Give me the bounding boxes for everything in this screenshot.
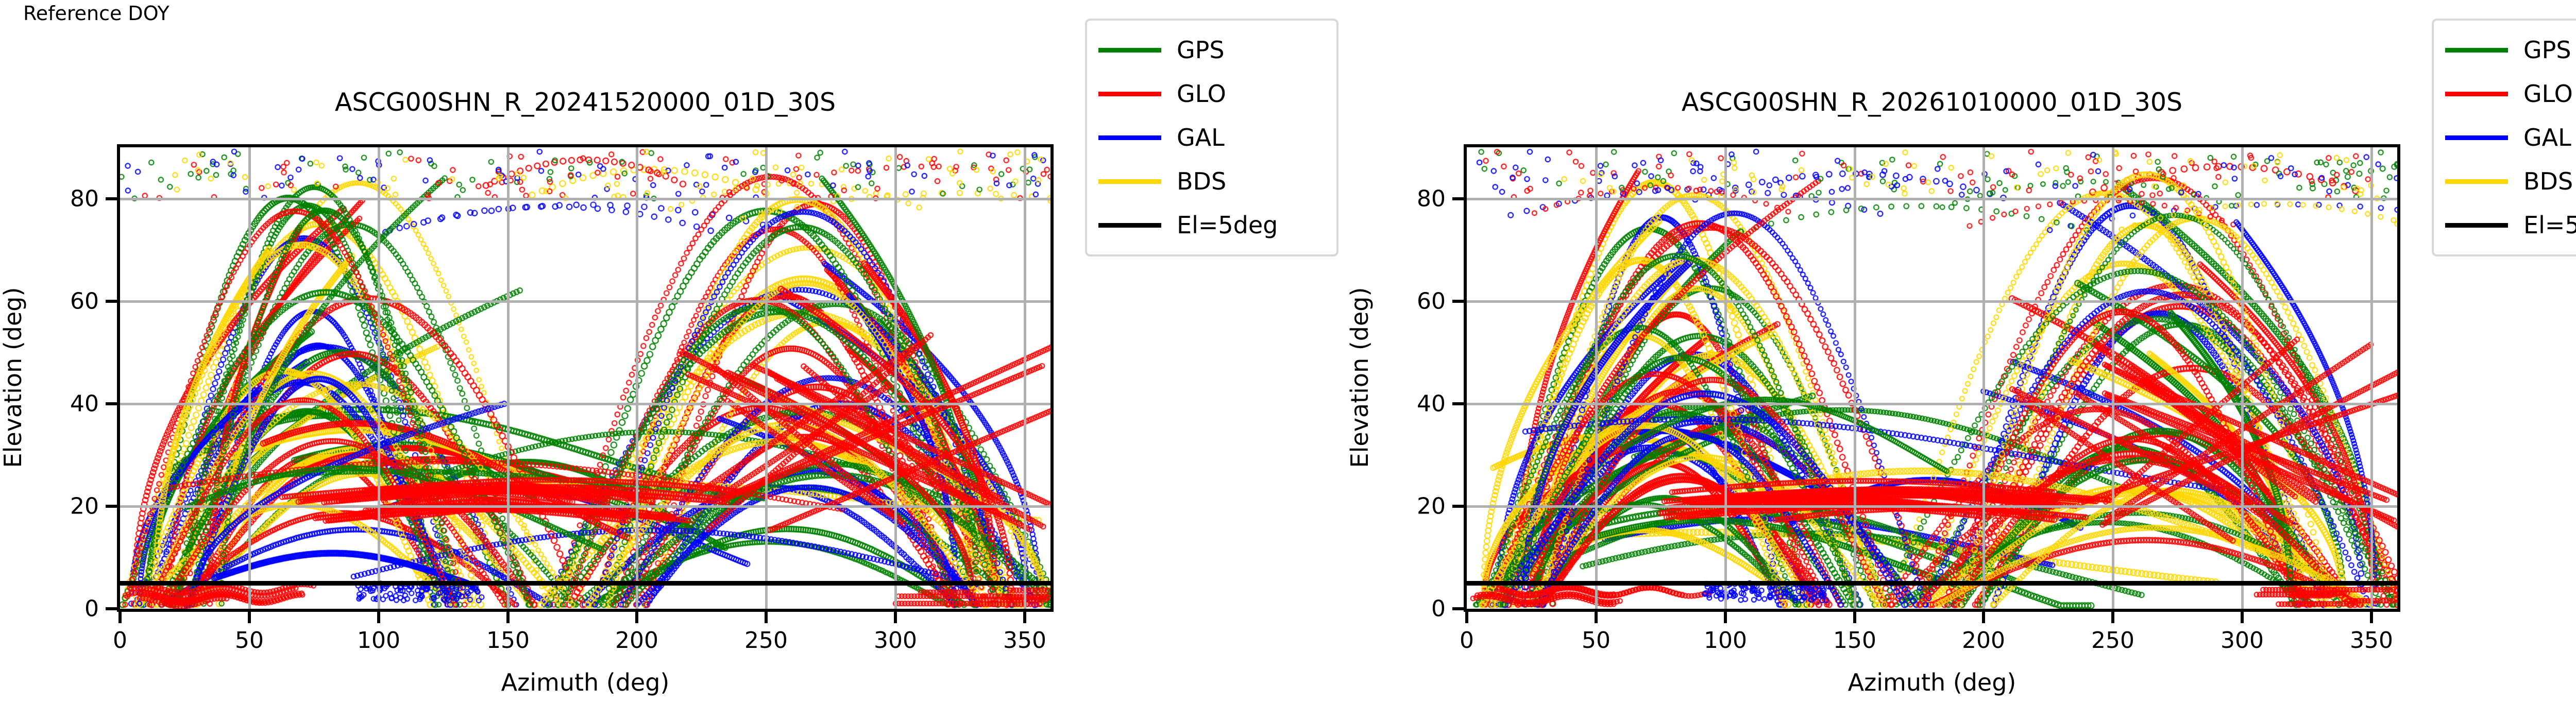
y-axis-label-left: Elevation (deg) — [0, 144, 27, 611]
x-axis-tick-label: 50 — [1582, 627, 1611, 654]
x-axis-tick — [1023, 612, 1026, 623]
legend-item-gps[interactable]: GPS — [1098, 30, 1323, 70]
legend-item-label: El=5deg — [2523, 213, 2576, 237]
x-axis-tick-label: 0 — [1460, 627, 1474, 654]
plot-area-left — [117, 144, 1054, 612]
gridline-vertical — [1982, 147, 1985, 609]
gridline-vertical — [765, 147, 768, 609]
x-axis-tick — [1465, 612, 1468, 623]
plot-area-right — [1464, 144, 2400, 612]
legend-color-swatch — [1098, 48, 1161, 53]
legend-left: GPSGLOGALBDSEl=5deg — [1085, 19, 1338, 256]
x-axis-tick — [248, 612, 251, 623]
gridline-horizontal — [1467, 403, 2397, 405]
legend-item-label: GAL — [2523, 126, 2571, 149]
legend-color-swatch — [2445, 92, 2508, 96]
legend-item-glo[interactable]: GLO — [1098, 74, 1323, 114]
legend-item-label: GPS — [2523, 38, 2571, 62]
legend-item-label: GAL — [1177, 126, 1225, 149]
legend-color-swatch — [1098, 179, 1161, 184]
legend-color-swatch — [2445, 48, 2508, 53]
y-axis-tick — [1452, 607, 1464, 610]
y-axis-tick — [106, 300, 117, 303]
x-axis-tick-label: 200 — [615, 627, 658, 654]
y-axis-label-right: Elevation (deg) — [1346, 144, 1374, 611]
legend-item-gal[interactable]: GAL — [2445, 117, 2576, 158]
x-axis-tick — [1724, 612, 1727, 623]
legend-color-swatch — [2445, 179, 2508, 184]
y-axis-tick-label: 0 — [1366, 596, 1446, 622]
skyplot-canvas-right — [1467, 147, 2397, 609]
gridline-vertical — [2112, 147, 2114, 609]
legend-color-swatch — [1098, 92, 1161, 96]
x-axis-tick-label: 300 — [874, 627, 917, 654]
elevation-mask-line — [120, 581, 1050, 586]
x-axis-tick — [894, 612, 897, 623]
x-axis-tick — [2370, 612, 2373, 623]
gridline-vertical — [2370, 147, 2373, 609]
y-axis-tick-label: 0 — [19, 596, 99, 622]
x-axis-tick-label: 250 — [744, 627, 788, 654]
gridline-horizontal — [1467, 198, 2397, 200]
gridline-horizontal — [120, 198, 1050, 200]
x-axis-tick — [765, 612, 768, 623]
gridline-vertical — [1854, 147, 1856, 609]
y-axis-tick — [106, 607, 117, 610]
legend-item-label: BDS — [1177, 169, 1226, 193]
x-axis-tick — [118, 612, 122, 623]
gridline-vertical — [636, 147, 638, 609]
legend-item-el-5deg[interactable]: El=5deg — [1098, 205, 1323, 245]
legend-item-label: GPS — [1177, 38, 1225, 62]
x-axis-tick-label: 150 — [486, 627, 530, 654]
gridline-vertical — [507, 147, 510, 609]
legend-item-gps[interactable]: GPS — [2445, 30, 2576, 70]
y-axis-tick — [1452, 505, 1464, 508]
gridline-vertical — [1024, 147, 1026, 609]
x-axis-tick-label: 100 — [1704, 627, 1747, 654]
gridline-horizontal — [120, 505, 1050, 508]
gridline-horizontal — [1467, 300, 2397, 303]
x-axis-tick-label: 250 — [2091, 627, 2134, 654]
y-axis-tick — [106, 402, 117, 405]
y-axis-tick-label: 80 — [19, 186, 99, 212]
legend-color-swatch — [1098, 223, 1161, 228]
legend-color-swatch — [2445, 223, 2508, 228]
y-axis-tick-label: 60 — [19, 288, 99, 315]
chart-title-left: ASCG00SHN_R_20241520000_01D_30S — [117, 88, 1054, 117]
x-axis-tick — [1595, 612, 1598, 623]
legend-item-bds[interactable]: BDS — [2445, 161, 2576, 201]
x-axis-tick-label: 150 — [1833, 627, 1876, 654]
y-axis-tick-label: 80 — [1366, 186, 1446, 212]
x-axis-tick-label: 200 — [1962, 627, 2005, 654]
gridline-vertical — [1724, 147, 1727, 609]
gridline-vertical — [1595, 147, 1598, 609]
gridline-vertical — [378, 147, 380, 609]
gridline-vertical — [248, 147, 251, 609]
gridline-vertical — [2241, 147, 2244, 609]
x-axis-tick — [1982, 612, 1985, 623]
x-axis-tick-label: 300 — [2221, 627, 2264, 654]
gridline-horizontal — [120, 300, 1050, 303]
legend-item-glo[interactable]: GLO — [2445, 74, 2576, 114]
legend-item-bds[interactable]: BDS — [1098, 161, 1323, 201]
gridline-horizontal — [1467, 505, 2397, 508]
x-axis-label-left: Azimuth (deg) — [117, 668, 1054, 696]
gridline-horizontal — [120, 403, 1050, 405]
y-axis-tick-label: 40 — [19, 391, 99, 417]
skyplot-panel-right: ASCG00SHN_R_20261010000_01D_30S Elevatio… — [1347, 0, 2576, 720]
legend-item-label: BDS — [2523, 169, 2573, 193]
legend-color-swatch — [2445, 135, 2508, 140]
skyplot-panel-left: ASCG00SHN_R_20241520000_01D_30S Elevatio… — [0, 0, 1347, 720]
x-axis-tick — [506, 612, 510, 623]
y-axis-tick-label: 20 — [1366, 493, 1446, 520]
y-axis-tick — [1452, 402, 1464, 405]
legend-right: GPSGLOGALBDSEl=5deg — [2432, 19, 2576, 256]
x-axis-label-right: Azimuth (deg) — [1464, 668, 2400, 696]
x-axis-tick — [1853, 612, 1856, 623]
y-axis-tick — [106, 197, 117, 200]
legend-item-label: El=5deg — [1177, 213, 1278, 237]
x-axis-tick — [2111, 612, 2114, 623]
legend-color-swatch — [1098, 135, 1161, 140]
x-axis-tick-label: 100 — [357, 627, 400, 654]
legend-item-label: GLO — [2523, 82, 2573, 106]
y-axis-tick — [106, 505, 117, 508]
skyplot-canvas-left — [120, 147, 1050, 609]
x-axis-tick — [377, 612, 380, 623]
legend-item-label: GLO — [1177, 82, 1226, 106]
x-axis-tick-label: 350 — [2350, 627, 2393, 654]
x-axis-tick — [635, 612, 638, 623]
x-axis-tick-label: 0 — [113, 627, 127, 654]
x-axis-tick — [2241, 612, 2244, 623]
y-axis-tick-label: 60 — [1366, 288, 1446, 315]
y-axis-tick — [1452, 300, 1464, 303]
gridline-vertical — [894, 147, 897, 609]
x-axis-tick-label: 350 — [1003, 627, 1046, 654]
x-axis-tick-label: 50 — [235, 627, 264, 654]
elevation-mask-line — [1467, 581, 2397, 586]
legend-item-el-5deg[interactable]: El=5deg — [2445, 205, 2576, 245]
y-axis-tick — [1452, 197, 1464, 200]
y-axis-tick-label: 40 — [1366, 391, 1446, 417]
y-axis-tick-label: 20 — [19, 493, 99, 520]
legend-item-gal[interactable]: GAL — [1098, 117, 1323, 158]
chart-title-right: ASCG00SHN_R_20261010000_01D_30S — [1464, 88, 2400, 117]
